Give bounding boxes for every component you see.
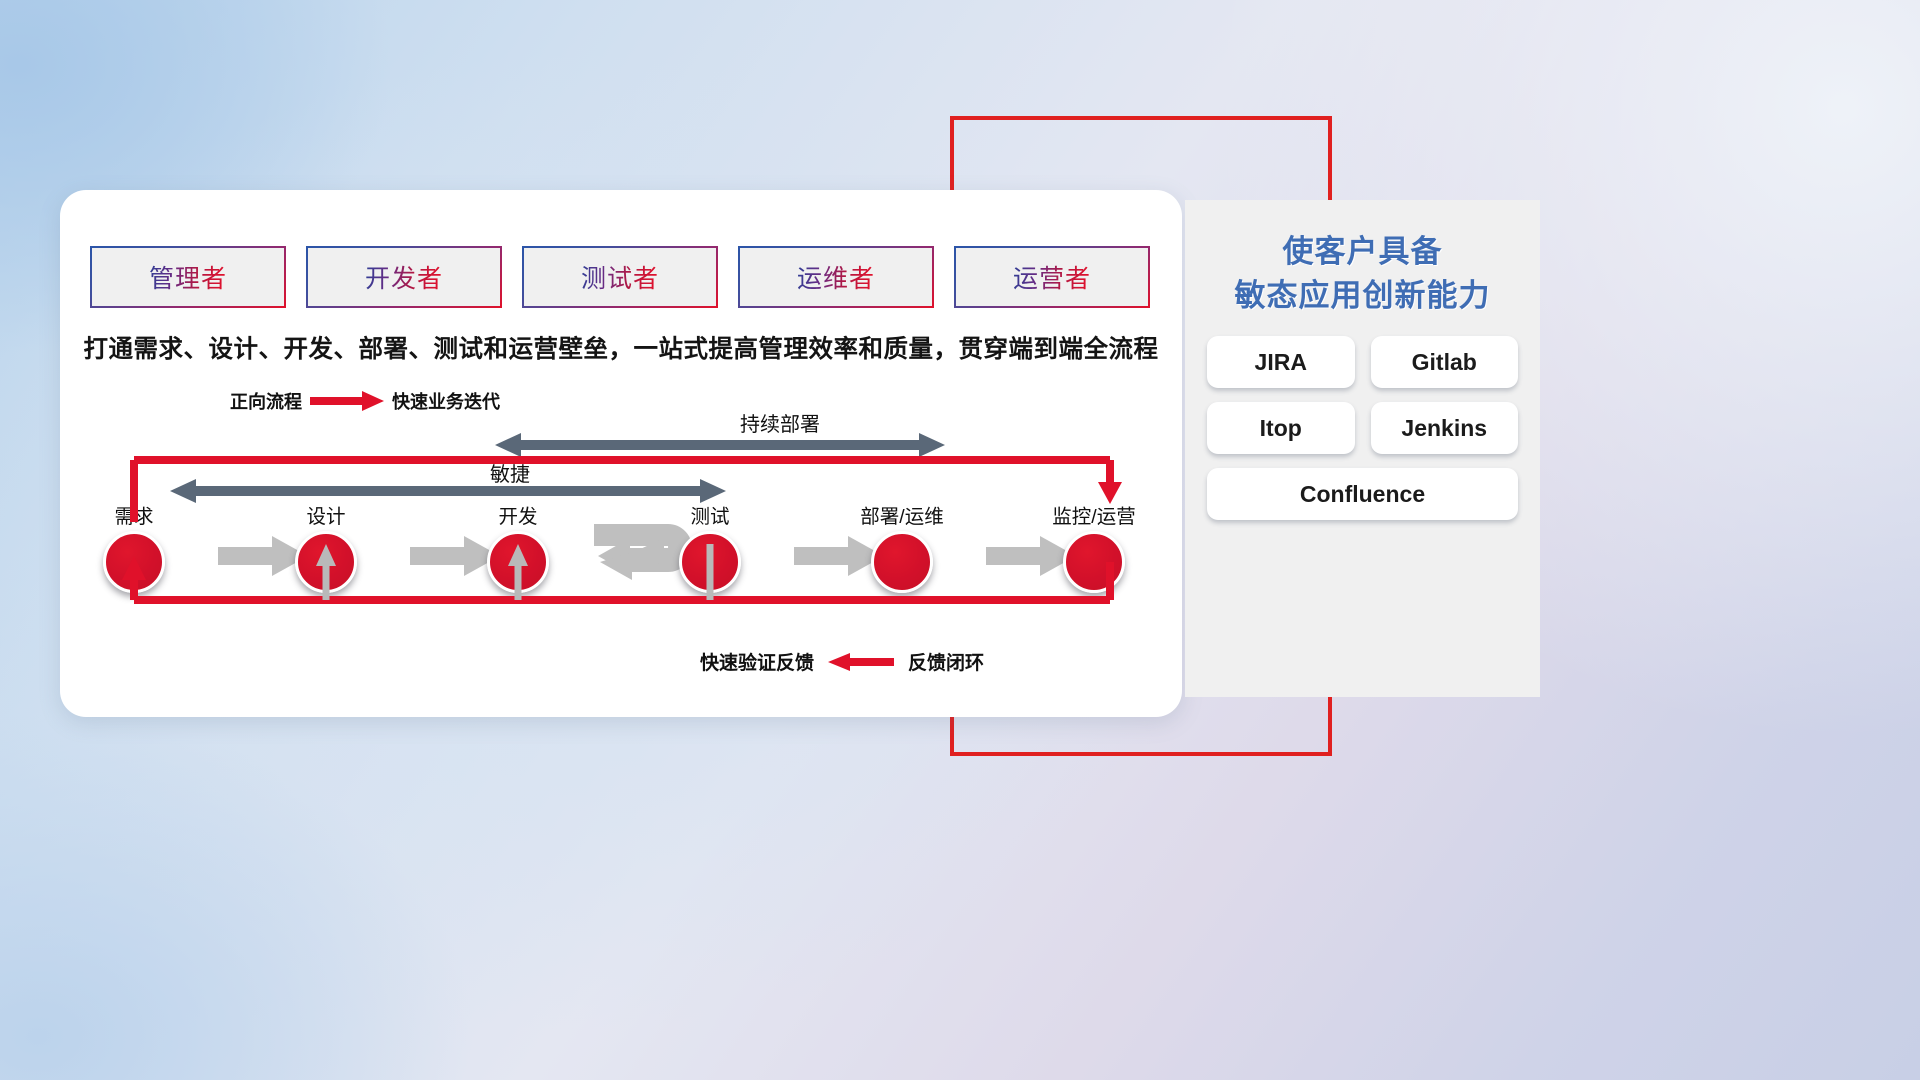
- red-left-arrow-icon: [828, 653, 894, 671]
- stage-dot: [679, 531, 741, 593]
- tool-tag-list: JIRA Gitlab Itop Jenkins Confluence: [1207, 336, 1518, 520]
- role-box-tester[interactable]: 测试者: [522, 246, 718, 308]
- stage-label: 开发: [462, 500, 574, 529]
- stage-label: 设计: [270, 500, 382, 529]
- forward-flow-result: 快速业务迭代: [392, 388, 500, 414]
- role-box-operations[interactable]: 运营者: [954, 246, 1150, 308]
- devops-flow-card: 管理者 开发者 测试者 运维者 运营者 打通需求、设计、开发、部署、测试和运营壁…: [60, 190, 1182, 717]
- role-label: 测试者: [581, 259, 659, 295]
- stage-node-design[interactable]: 设计: [270, 500, 382, 593]
- panel-title-line2: 敏态应用创新能力: [1207, 274, 1518, 318]
- stage-row: 需求 设计 开发 测试: [90, 500, 1152, 610]
- tool-tag-jenkins[interactable]: Jenkins: [1371, 402, 1519, 454]
- stage-node-testing[interactable]: 测试: [654, 500, 766, 593]
- tool-tag-jira[interactable]: JIRA: [1207, 336, 1355, 388]
- stage-node-development[interactable]: 开发: [462, 500, 574, 593]
- value-proposition-panel: 使客户具备 敏态应用创新能力 JIRA Gitlab Itop Jenkins …: [1185, 200, 1540, 697]
- red-right-arrow-icon: [310, 391, 384, 411]
- role-label: 管理者: [149, 259, 227, 295]
- tool-tag-gitlab[interactable]: Gitlab: [1371, 336, 1519, 388]
- stage-node-requirement[interactable]: 需求: [78, 500, 190, 593]
- stage-node-monitor-operations[interactable]: 监控/运营: [1038, 500, 1150, 593]
- fast-validation-label: 快速验证反馈: [700, 648, 814, 675]
- panel-title-line1: 使客户具备: [1283, 234, 1443, 269]
- stage-node-deploy-ops[interactable]: 部署/运维: [846, 500, 958, 593]
- role-label: 运营者: [1013, 259, 1091, 295]
- stage-label: 测试: [654, 500, 766, 529]
- role-label: 运维者: [797, 259, 875, 295]
- tagline-text: 打通需求、设计、开发、部署、测试和运营壁垒，一站式提高管理效率和质量，贯穿端到端…: [60, 330, 1182, 365]
- stage-dot: [103, 531, 165, 593]
- stage-dot: [871, 531, 933, 593]
- tool-tag-confluence[interactable]: Confluence: [1207, 468, 1518, 520]
- stage-label: 需求: [78, 500, 190, 529]
- forward-flow-label: 正向流程: [230, 388, 302, 414]
- stage-label: 部署/运维: [846, 500, 958, 529]
- role-box-ops[interactable]: 运维者: [738, 246, 934, 308]
- role-box-developer[interactable]: 开发者: [306, 246, 502, 308]
- continuous-deployment-double-arrow-icon: [495, 432, 945, 458]
- role-box-row: 管理者 开发者 测试者 运维者 运营者: [90, 246, 1150, 308]
- role-label: 开发者: [365, 259, 443, 295]
- stage-dot: [1063, 531, 1125, 593]
- stage-label: 监控/运营: [1038, 500, 1150, 529]
- panel-title: 使客户具备 敏态应用创新能力: [1207, 230, 1518, 318]
- feedback-loop-label: 反馈闭环: [908, 648, 984, 675]
- feedback-annotation: 快速验证反馈 反馈闭环: [700, 648, 984, 675]
- role-box-manager[interactable]: 管理者: [90, 246, 286, 308]
- tool-tag-itop[interactable]: Itop: [1207, 402, 1355, 454]
- forward-flow-annotation: 正向流程 快速业务迭代: [230, 388, 500, 414]
- stage-dot: [487, 531, 549, 593]
- stage-dot: [295, 531, 357, 593]
